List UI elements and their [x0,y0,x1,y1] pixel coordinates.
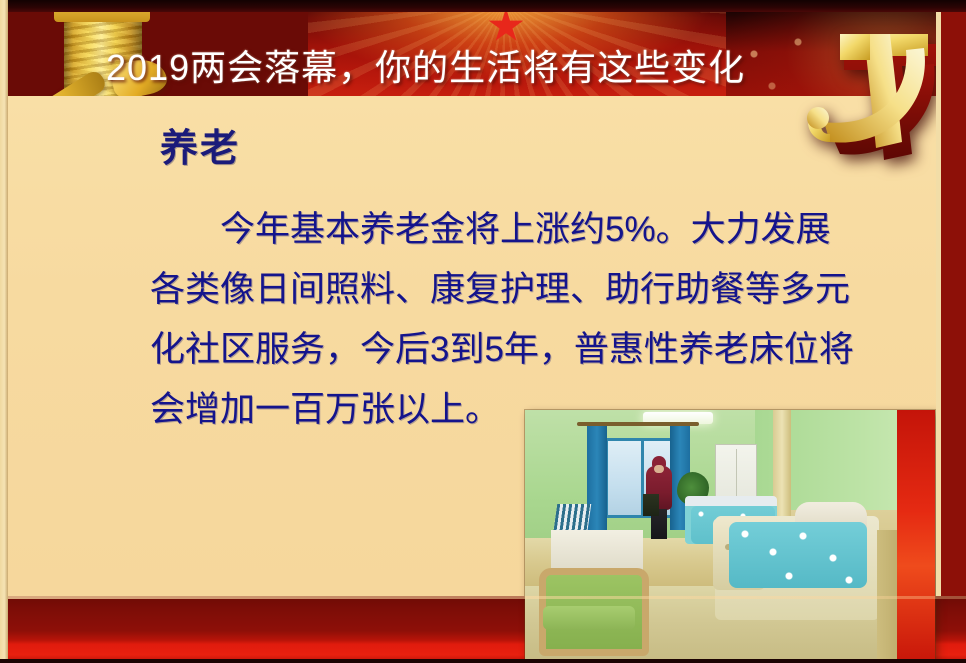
top-black-strip [0,0,966,12]
pillar-cap [54,12,150,22]
photo-right-red-strip [897,410,935,662]
body-line-3: 化社区服务，今后3到5年，普惠性养老床位将 [150,320,922,380]
left-edge-border [0,0,8,663]
photo-person-face [654,465,664,473]
photo-armchair-seat [543,606,635,630]
hammer-sickle-icon [778,14,954,176]
nursing-home-room-photo [525,410,935,662]
right-edge-border [936,12,966,596]
bottom-edge-border [0,659,966,663]
photo-bed-front-quilt [729,522,867,588]
presentation-slide: 2019两会落幕，你的生活将有这些变化 养老 今年基本养老金将上涨约5%。大力发… [0,0,966,663]
bottom-band-highlight [0,596,966,599]
page-title: 2019两会落幕，你的生活将有这些变化 [106,48,745,88]
section-heading: 养老 [160,126,240,172]
body-paragraph: 今年基本养老金将上涨约5%。大力发展 各类像日间照料、康复护理、助行助餐等多元 … [150,200,922,440]
photo-curtain-left [587,426,607,534]
body-line-2: 各类像日间照料、康复护理、助行助餐等多元 [150,260,922,320]
photo-person-bag [643,494,659,516]
body-line-1: 今年基本养老金将上涨约5%。大力发展 [150,200,922,260]
